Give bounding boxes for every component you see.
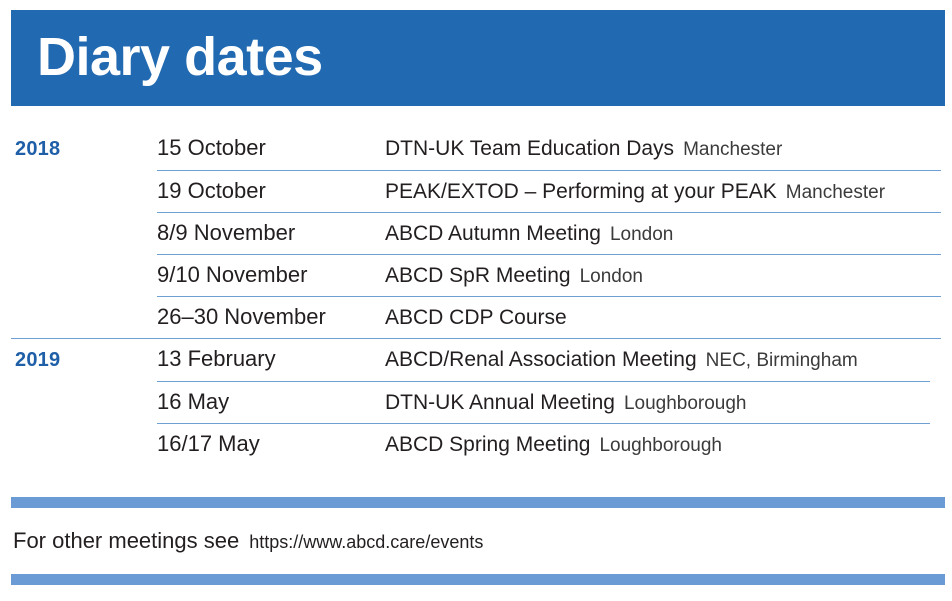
year-label: 2019 [15,349,60,372]
footer-url-link[interactable]: https://www.abcd.care/events [239,532,483,553]
schedule-row: 26–30 NovemberABCD CDP Course [157,296,941,338]
row-event: DTN-UK Team Education Days [385,130,674,161]
schedule-row: 19 OctoberPEAK/EXTOD – Performing at you… [157,170,941,212]
row-location: NEC, Birmingham [697,343,858,372]
row-date: 16/17 May [157,424,385,457]
row-event: ABCD/Renal Association Meeting [385,341,697,372]
footer-line: For other meetings see https://www.abcd.… [13,528,483,554]
schedule-row: 15 OctoberDTN-UK Team Education DaysManc… [157,128,941,170]
row-date: 16 May [157,382,385,415]
schedule-row: 8/9 NovemberABCD Autumn MeetingLondon [157,212,941,254]
year-group: 201815 OctoberDTN-UK Team Education Days… [0,128,952,338]
footer-rule-bottom [11,574,945,585]
row-date: 15 October [157,128,385,161]
row-event: DTN-UK Annual Meeting [385,384,615,415]
row-date: 19 October [157,171,385,204]
row-location: London [601,217,673,246]
row-event: ABCD SpR Meeting [385,257,571,288]
row-event: ABCD CDP Course [385,299,567,330]
row-date: 8/9 November [157,213,385,246]
year-group: 201913 FebruaryABCD/Renal Association Me… [11,338,941,465]
diary-dates-page: { "header": { "title": "Diary dates", "b… [0,0,952,601]
schedule-row: 13 FebruaryABCD/Renal Association Meetin… [157,339,930,381]
year-label: 2018 [15,138,60,161]
row-location: Loughborough [615,386,747,415]
row-event: ABCD Autumn Meeting [385,215,601,246]
footer-label: For other meetings see [13,528,239,554]
diary-schedule: 201815 OctoberDTN-UK Team Education Days… [0,128,952,465]
row-location: London [571,259,643,288]
schedule-row: 16/17 MayABCD Spring MeetingLoughborough [157,423,930,465]
schedule-row: 16 MayDTN-UK Annual MeetingLoughborough [157,381,930,423]
row-event: ABCD Spring Meeting [385,426,590,457]
schedule-row: 9/10 NovemberABCD SpR MeetingLondon [157,254,941,296]
page-title: Diary dates [37,30,323,84]
row-location: Manchester [674,132,782,161]
row-event: PEAK/EXTOD – Performing at your PEAK [385,173,777,204]
footer-rule-top [11,497,945,508]
row-date: 13 February [157,339,385,372]
row-location [567,317,576,324]
row-date: 26–30 November [157,297,385,330]
row-location: Manchester [777,175,885,204]
header-banner: Diary dates [11,10,945,106]
row-location: Loughborough [590,428,722,457]
row-date: 9/10 November [157,255,385,288]
